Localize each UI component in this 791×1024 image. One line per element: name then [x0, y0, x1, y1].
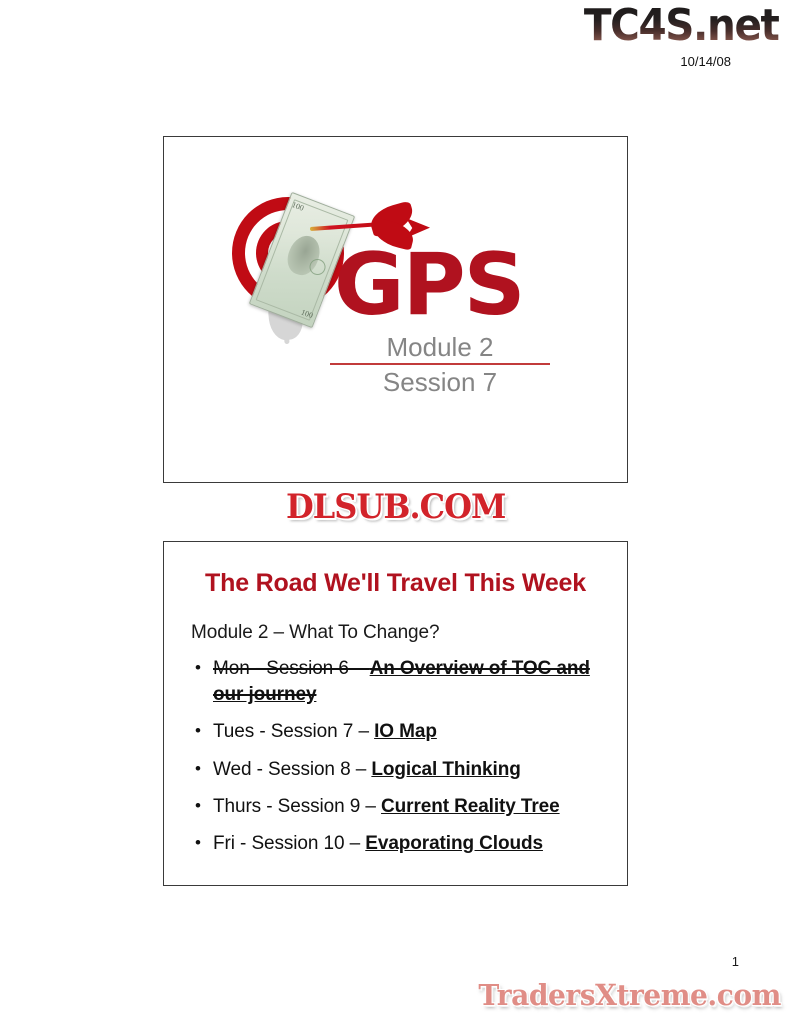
agenda-item: Mon - Session 6 – An Overview of TOC and… [191, 656, 609, 708]
agenda-item-topic: IO Map [374, 721, 437, 742]
gps-session-label: Session 7 [330, 365, 550, 397]
header-brand: TC4S.net 10/14/08 [567, 4, 779, 68]
dlsub-watermark-text: DLSUB.COM [286, 487, 505, 527]
bill-corner-bottom: 100 [299, 307, 313, 321]
tc4s-logo: TC4S.net [584, 4, 779, 48]
content-slide-body: Module 2 – What To Change? Mon - Session… [191, 622, 609, 868]
agenda-item: Tues - Session 7 – IO Map [191, 719, 609, 745]
agenda-item: Wed - Session 8 – Logical Thinking [191, 757, 609, 783]
gps-logo: 100 100 GPS Module 2 Session 7 [224, 182, 569, 427]
tradersxtreme-logo: TradersXtreme.com [478, 978, 781, 1012]
content-slide: The Road We'll Travel This Week Module 2… [163, 541, 628, 886]
agenda-item-topic: Current Reality Tree [381, 796, 560, 817]
agenda-item-day: Wed - Session 8 – [213, 759, 371, 780]
agenda-item-topic: Logical Thinking [371, 759, 520, 780]
gps-wordmark: GPS [334, 242, 524, 328]
agenda-item-day: Tues - Session 7 – [213, 721, 374, 742]
agenda-item: Fri - Session 10 – Evaporating Clouds [191, 831, 609, 857]
agenda-item: Thurs - Session 9 – Current Reality Tree [191, 794, 609, 820]
module-question-line: Module 2 – What To Change? [191, 622, 609, 644]
title-slide: 100 100 GPS Module 2 Session 7 [163, 136, 628, 483]
page-number: 1 [732, 954, 739, 969]
gps-module-label: Module 2 [330, 332, 550, 365]
agenda-item-day: Fri - Session 10 – [213, 833, 365, 854]
content-slide-title: The Road We'll Travel This Week [164, 569, 627, 598]
agenda-item-day: Thurs - Session 9 – [213, 796, 381, 817]
agenda-list: Mon - Session 6 – An Overview of TOC and… [191, 656, 609, 857]
header-date: 10/14/08 [567, 55, 731, 68]
gps-subtitle: Module 2 Session 7 [330, 332, 550, 397]
agenda-item-day: Mon - Session 6 – [213, 658, 370, 679]
dlsub-watermark: DLSUB.COM [0, 487, 791, 527]
agenda-item-topic: Evaporating Clouds [365, 833, 543, 854]
